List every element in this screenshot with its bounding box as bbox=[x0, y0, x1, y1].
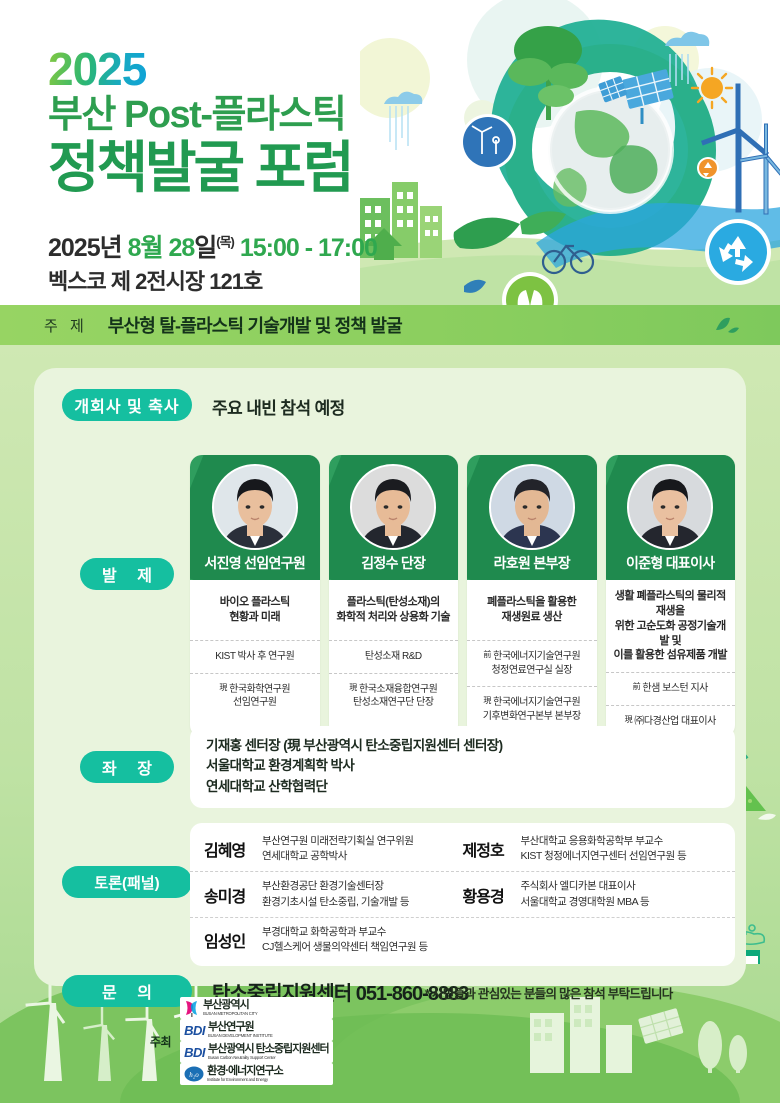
career-prefix: 前 bbox=[483, 650, 491, 659]
career-prefix: 現 bbox=[219, 683, 227, 692]
inquiry-note: * 시민들과 관심있는 분들의 많은 참석 부탁드립니다 bbox=[425, 983, 673, 1002]
svg-text:h₂o: h₂o bbox=[189, 1071, 199, 1079]
panelist-affiliation: 부산연구원 미래전략기획실 연구위원연세대학교 공학박사 bbox=[262, 834, 413, 864]
speaker-topic: 바이오 플라스틱현황과 미래 bbox=[190, 580, 320, 640]
event-datetime: 2025년 8월 28일(목) 15:00 - 17:00 bbox=[48, 228, 377, 264]
partner-logo: BDI 부산광역시 탄소중립지원센터 Busan Carbon Neutrali… bbox=[180, 1041, 333, 1063]
logo-name-en: Busan Carbon Neutrality Support Center bbox=[208, 1056, 329, 1060]
career-prefix: 現 bbox=[625, 715, 633, 724]
footer: 주최 부산광역시 BUSAN METROPOLITAN CITY BDI 부산연… bbox=[0, 1033, 780, 1103]
speaker-career-1: 前 한국에너지기술연구원청정연료연구실 실장 bbox=[467, 640, 597, 686]
chair-line: 서울대학교 환경계획학 박사 bbox=[206, 756, 719, 776]
panel-row: 임성인 부경대학교 화학공학과 부교수CJ헬스케어 생물의약센터 책임연구원 등 bbox=[190, 917, 735, 962]
panelist-name: 황용경 bbox=[463, 883, 521, 907]
date-prefix: 2025년 bbox=[48, 234, 122, 262]
bdi-wordmark-icon: BDI bbox=[184, 1045, 205, 1060]
career-prefix: 前 bbox=[633, 682, 641, 691]
theme-text: 부산형 탈-플라스틱 기술개발 및 정책 발굴 bbox=[108, 312, 402, 338]
panelist: 임성인 부경대학교 화학공학과 부교수CJ헬스케어 생물의약센터 책임연구원 등 bbox=[204, 925, 463, 955]
date-day: 28 bbox=[168, 234, 194, 262]
logo-name-ko: 환경·에너지연구소 bbox=[207, 1066, 283, 1077]
busan-city-mark-icon bbox=[184, 999, 200, 1017]
speaker-name: 라호원 본부장 bbox=[467, 553, 597, 573]
page-title: 정책발굴 포럼 bbox=[48, 140, 352, 196]
logo-name-en: BUSAN METROPOLITAN CITY bbox=[203, 1012, 257, 1016]
logo-name-ko: 부산광역시 탄소중립지원센터 bbox=[208, 1044, 329, 1055]
chair-line: 기재홍 센터장 (現 부산광역시 탄소중립지원센터 센터장) bbox=[206, 736, 719, 756]
panelist-name: 송미경 bbox=[204, 883, 262, 907]
partner-logo: h₂o 환경·에너지연구소 Institute for Environment … bbox=[180, 1063, 333, 1085]
chair-box: 기재홍 센터장 (現 부산광역시 탄소중립지원센터 센터장)서울대학교 환경계획… bbox=[190, 726, 735, 808]
speaker-header: 서진영 선임연구원 bbox=[190, 455, 320, 580]
panelist-affiliation: 부산대학교 응용화학공학부 부교수KIST 청정에너지연구센터 선임연구원 등 bbox=[521, 834, 687, 864]
date-month: 8월 bbox=[128, 234, 163, 262]
speaker-header: 라호원 본부장 bbox=[467, 455, 597, 580]
panelist: 황용경 주식회사 엘디카본 대표이사서울대학교 경영대학원 MBA 등 bbox=[463, 879, 722, 909]
speaker-header: 이준형 대표이사 bbox=[606, 455, 736, 580]
logo-name-ko: 부산광역시 bbox=[203, 1000, 257, 1011]
speaker-name: 서진영 선임연구원 bbox=[190, 553, 320, 573]
speaker-career-1: KIST 박사 후 연구원 bbox=[190, 640, 320, 673]
speaker-card-list: 서진영 선임연구원 바이오 플라스틱현황과 미래 KIST 박사 후 연구원 現… bbox=[190, 455, 735, 737]
speaker-topic: 폐플라스틱을 활용한재생원료 생산 bbox=[467, 580, 597, 640]
theme-bar: 주 제 부산형 탈-플라스틱 기술개발 및 정책 발굴 bbox=[0, 305, 780, 345]
theme-label: 주 제 bbox=[44, 315, 88, 336]
avatar bbox=[627, 464, 713, 550]
speaker-topic: 플라스틱(탄성소재)의화학적 처리와 상용화 기술 bbox=[329, 580, 459, 640]
opening-note: 주요 내빈 참석 예정 bbox=[212, 394, 345, 419]
avatar bbox=[489, 464, 575, 550]
logo-name-en: Institute for Environment and Energy bbox=[207, 1078, 283, 1082]
career-prefix: 現 bbox=[483, 696, 491, 705]
speaker-header: 김정수 단장 bbox=[329, 455, 459, 580]
leaf-icon bbox=[714, 316, 740, 334]
panelist-name: 김혜영 bbox=[204, 837, 262, 861]
hero-section: 2025 부산 Post-플라스틱 정책발굴 포럼 2025년 8월 28일(목… bbox=[0, 0, 780, 305]
speaker-card: 서진영 선임연구원 바이오 플라스틱현황과 미래 KIST 박사 후 연구원 現… bbox=[190, 455, 320, 737]
chair-line: 연세대학교 산학협력단 bbox=[206, 777, 719, 797]
panelist: 김혜영 부산연구원 미래전략기획실 연구위원연세대학교 공학박사 bbox=[204, 834, 463, 864]
avatar bbox=[212, 464, 298, 550]
speaker-portrait bbox=[214, 466, 296, 548]
speaker-name: 김정수 단장 bbox=[329, 553, 459, 573]
career-prefix: 現 bbox=[349, 683, 357, 692]
badge-panel: 토론(패널) bbox=[62, 866, 192, 898]
speaker-career-2: 現 한국소재융합연구원탄성소재연구단 단장 bbox=[329, 673, 459, 719]
panelist-affiliation: 부산환경공단 환경기술센터장환경기초시설 탄소중립, 기술개발 등 bbox=[262, 879, 409, 909]
speaker-card: 라호원 본부장 폐플라스틱을 활용한재생원료 생산 前 한국에너지기술연구원청정… bbox=[467, 455, 597, 737]
panelist-name: 제정호 bbox=[463, 837, 521, 861]
panelist-affiliation: 주식회사 엘디카본 대표이사서울대학교 경영대학원 MBA 등 bbox=[521, 879, 650, 909]
eco-illustration bbox=[360, 0, 780, 305]
avatar bbox=[350, 464, 436, 550]
badge-chair: 좌 장 bbox=[80, 751, 174, 783]
badge-opening: 개회사 및 축사 bbox=[62, 389, 192, 421]
logo-name-ko: 부산연구원 bbox=[208, 1022, 273, 1033]
partner-logo: BDI 부산연구원 BUSAN DEVELOPMENT INSTITUTE bbox=[180, 1019, 333, 1041]
date-weekday: (목) bbox=[216, 235, 234, 250]
speaker-career-1: 前 한샘 보스턴 지사 bbox=[606, 672, 736, 705]
logo-name-en: BUSAN DEVELOPMENT INSTITUTE bbox=[208, 1034, 273, 1038]
speaker-portrait bbox=[491, 466, 573, 548]
panelist-empty bbox=[463, 925, 722, 955]
speaker-portrait bbox=[629, 466, 711, 548]
speaker-topic: 생활 폐플라스틱의 물리적 재생을위한 고순도화 공정기술개발 및이를 활용한 … bbox=[606, 580, 736, 672]
speaker-card: 김정수 단장 플라스틱(탄성소재)의화학적 처리와 상용화 기술 탄성소재 R&… bbox=[329, 455, 459, 737]
hee-circle-icon: h₂o bbox=[184, 1066, 204, 1082]
hero-subtitle: 부산 Post-플라스틱 bbox=[48, 96, 345, 134]
badge-presentation: 발 제 bbox=[80, 558, 174, 590]
panelist: 제정호 부산대학교 응용화학공학부 부교수KIST 청정에너지연구센터 선임연구… bbox=[463, 834, 722, 864]
speaker-name: 이준형 대표이사 bbox=[606, 553, 736, 573]
panelist: 송미경 부산환경공단 환경기술센터장환경기초시설 탄소중립, 기술개발 등 bbox=[204, 879, 463, 909]
panel-box: 김혜영 부산연구원 미래전략기획실 연구위원연세대학교 공학박사제정호 부산대학… bbox=[190, 823, 735, 966]
speaker-career-1: 탄성소재 R&D bbox=[329, 640, 459, 673]
panel-row: 송미경 부산환경공단 환경기술센터장환경기초시설 탄소중립, 기술개발 등황용경… bbox=[190, 871, 735, 916]
host-label: 주최 bbox=[150, 1033, 171, 1050]
speaker-card: 이준형 대표이사 생활 폐플라스틱의 물리적 재생을위한 고순도화 공정기술개발… bbox=[606, 455, 736, 737]
panelist-affiliation: 부경대학교 화학공학과 부교수CJ헬스케어 생물의약센터 책임연구원 등 bbox=[262, 925, 428, 955]
panelist-name: 임성인 bbox=[204, 928, 262, 952]
date-day-suffix: 일 bbox=[194, 234, 216, 262]
speaker-career-2: 現 한국화학연구원선임연구원 bbox=[190, 673, 320, 719]
panel-row: 김혜영 부산연구원 미래전략기획실 연구위원연세대학교 공학박사제정호 부산대학… bbox=[190, 827, 735, 871]
speaker-portrait bbox=[352, 466, 434, 548]
partner-logo: 부산광역시 BUSAN METROPOLITAN CITY bbox=[180, 997, 333, 1019]
event-time: 15:00 - 17:00 bbox=[240, 234, 377, 262]
event-venue: 벡스코 제 2전시장 121호 bbox=[48, 264, 262, 296]
poster-root: 2025 부산 Post-플라스틱 정책발굴 포럼 2025년 8월 28일(목… bbox=[0, 0, 780, 1103]
host-logos: 주최 부산광역시 BUSAN METROPOLITAN CITY BDI 부산연… bbox=[150, 997, 333, 1085]
bdi-wordmark-icon: BDI bbox=[184, 1023, 205, 1038]
hero-year: 2025 bbox=[48, 46, 146, 92]
